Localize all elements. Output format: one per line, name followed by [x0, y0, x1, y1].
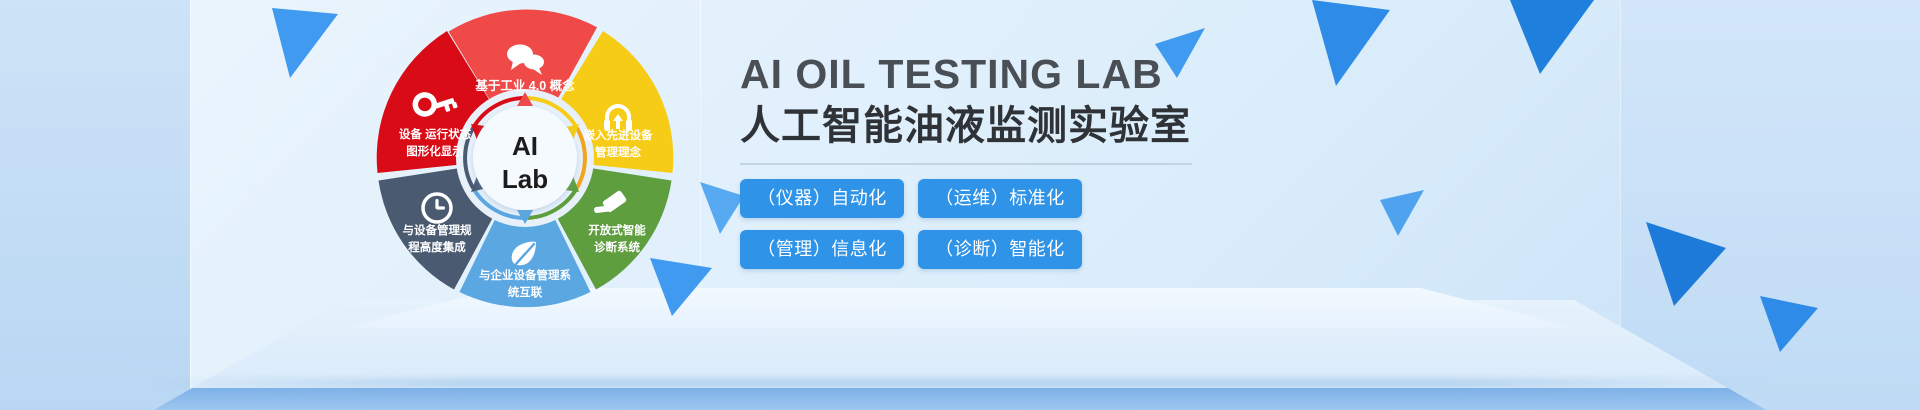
segment-label-open-diagnosis-line1: 开放式智能	[588, 223, 646, 237]
feature-pill-instrument-automation[interactable]: （仪器）自动化	[740, 179, 904, 218]
ai-lab-wheel: AI Lab	[375, 8, 675, 308]
title-english: AI OIL TESTING LAB	[740, 52, 1440, 97]
banner-root: AI Lab	[0, 0, 1920, 410]
segment-label-advanced-equipment-line1: 嵌入先进设备	[584, 128, 653, 142]
segment-label-enterprise-interconnect-line1: 与企业设备管理系	[479, 268, 571, 282]
decor-triangle-8	[1640, 222, 1726, 306]
segment-label-industry-40-line1: 基于工业 4.0 概念	[474, 78, 575, 93]
segment-label-open-diagnosis-line2: 诊断系统	[594, 240, 640, 254]
headline-block: AI OIL TESTING LAB 人工智能油液监测实验室 （仪器）自动化 （…	[740, 52, 1440, 269]
segment-label-management-integration-line1: 与设备管理规	[403, 223, 472, 237]
wheel-svg: AI Lab	[375, 8, 675, 308]
decor-triangle-6	[1510, 0, 1594, 74]
decor-triangle-9	[1760, 296, 1818, 352]
background-stripe-left	[190, 0, 191, 410]
wheel-core-line2: Lab	[502, 164, 548, 194]
feature-pill-diagnosis-intelligence[interactable]: （诊断）智能化	[918, 230, 1082, 269]
segment-label-management-integration-line2: 程高度集成	[408, 240, 466, 254]
segment-label-status-visualization-line1: 设备 运行状态	[399, 127, 472, 141]
feature-pill-ops-standardization[interactable]: （运维）标准化	[918, 179, 1082, 218]
title-divider	[740, 163, 1192, 165]
segment-label-enterprise-interconnect-line2: 统互联	[508, 285, 543, 299]
background-left-wall	[0, 0, 190, 410]
segment-label-status-visualization-line2: 图形化显示	[406, 144, 464, 158]
title-chinese: 人工智能油液监测实验室	[740, 103, 1440, 149]
wheel-core-line1: AI	[512, 131, 538, 161]
background-slab-shadow	[150, 378, 1770, 388]
decor-triangle-1	[272, 8, 338, 78]
feature-pill-list: （仪器）自动化 （运维）标准化 （管理）信息化 （诊断）智能化	[740, 179, 1090, 269]
background-floor-edge	[0, 388, 1920, 410]
feature-pill-management-informatization[interactable]: （管理）信息化	[740, 230, 904, 269]
segment-label-advanced-equipment-line2: 管理理念	[595, 145, 641, 159]
